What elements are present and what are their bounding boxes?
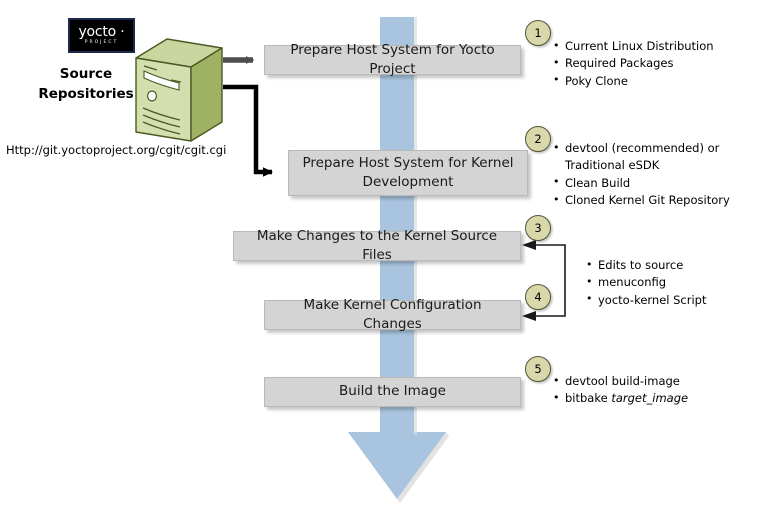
note-item-continuation: Traditional eSDK <box>553 157 730 174</box>
step-number: 4 <box>534 290 541 304</box>
logo-wordmark: yocto · <box>78 25 124 39</box>
step-badge-1: 1 <box>525 20 551 46</box>
step-number: 2 <box>534 132 541 146</box>
process-box-build-image[interactable]: Build the Image <box>264 377 521 407</box>
notes-step-2: devtool (recommended) or Traditional eSD… <box>553 140 730 210</box>
note-item: devtool build-image <box>553 373 688 390</box>
process-box-label: Prepare Host System for Kernel Developme… <box>297 154 519 192</box>
bitbake-target-arg: target_image <box>611 391 688 405</box>
step-badge-4: 4 <box>525 284 551 310</box>
bitbake-command: bitbake <box>565 391 611 405</box>
note-item: devtool (recommended) or <box>553 140 730 157</box>
process-box-label: Make Kernel Configuration Changes <box>273 296 512 334</box>
note-item: menuconfig <box>586 274 707 291</box>
note-item-bitbake: bitbake target_image <box>553 390 688 407</box>
step-badge-2: 2 <box>525 126 551 152</box>
process-box-prepare-host-yocto[interactable]: Prepare Host System for Yocto Project <box>264 45 521 75</box>
logo-subtitle: PROJECT <box>85 41 118 46</box>
process-box-make-source-changes[interactable]: Make Changes to the Kernel Source Files <box>233 231 521 261</box>
source-label-line2: Repositories <box>26 85 146 105</box>
loop-connector-steps-3-4 <box>522 240 565 321</box>
source-label-line1: Source <box>26 65 146 85</box>
server-tower-icon <box>133 36 225 146</box>
step-number: 3 <box>534 221 541 235</box>
source-repository-url[interactable]: Http://git.yoctoproject.org/cgit/cgit.cg… <box>6 143 226 157</box>
diagram-canvas: yocto · PROJECT Source Repositories Http… <box>0 0 769 517</box>
arrow-server-to-box2 <box>223 87 272 172</box>
notes-step-5: devtool build-image bitbake target_image <box>553 373 688 408</box>
step-badge-3: 3 <box>525 215 551 241</box>
step-number: 1 <box>534 26 541 40</box>
yocto-project-logo: yocto · PROJECT <box>68 18 135 53</box>
process-box-label: Make Changes to the Kernel Source Files <box>242 227 512 265</box>
note-item: yocto-kernel Script <box>586 292 707 309</box>
note-item: Edits to source <box>586 257 707 274</box>
notes-step-1: Current Linux Distribution Required Pack… <box>553 38 714 90</box>
process-box-label: Prepare Host System for Yocto Project <box>273 41 512 79</box>
process-box-label: Build the Image <box>339 382 446 401</box>
process-box-make-config-changes[interactable]: Make Kernel Configuration Changes <box>264 300 521 330</box>
notes-steps-3-4: Edits to source menuconfig yocto-kernel … <box>586 257 707 309</box>
note-item: Poky Clone <box>553 73 714 90</box>
process-box-prepare-host-kernel[interactable]: Prepare Host System for Kernel Developme… <box>288 150 528 196</box>
step-number: 5 <box>534 362 541 376</box>
source-repositories-label: Source Repositories <box>26 65 146 104</box>
note-item: Required Packages <box>553 55 714 72</box>
note-item: Cloned Kernel Git Repository <box>553 192 730 209</box>
note-item: Current Linux Distribution <box>553 38 714 55</box>
step-badge-5: 5 <box>525 356 551 382</box>
note-item: Clean Build <box>553 175 730 192</box>
